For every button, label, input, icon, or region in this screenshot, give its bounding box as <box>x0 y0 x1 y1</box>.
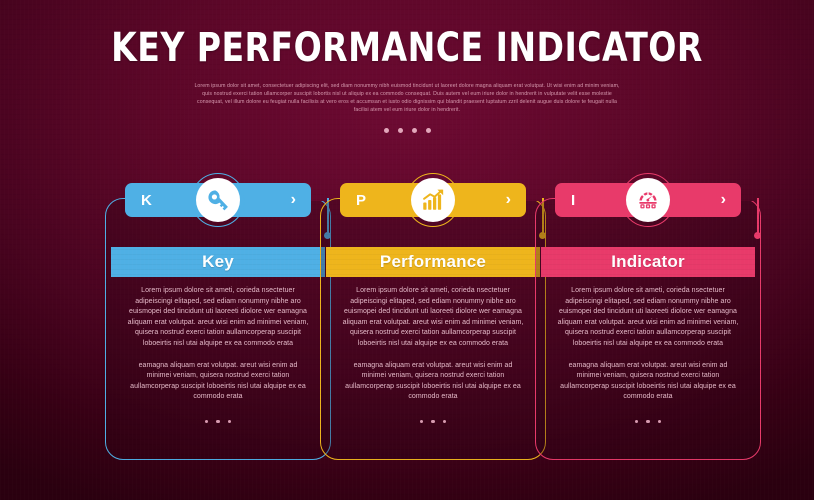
bar-chart-growth-icon <box>411 178 455 222</box>
card-badge-letter: P <box>356 183 366 217</box>
header-dot <box>398 128 403 133</box>
card-footer-dots <box>320 420 546 423</box>
card-footer-dot <box>443 420 446 423</box>
card-connector-stem <box>757 198 759 234</box>
key-icon <box>196 178 240 222</box>
card-connector-dot-right <box>754 232 761 239</box>
card-badge-letter: I <box>571 183 575 217</box>
card-paragraph: eamagna aliquam erat volutpat. areut wis… <box>557 361 739 403</box>
card-paragraph: Lorem ipsum dolore sit ameti, corieda ns… <box>127 286 309 350</box>
card-title-band: Performance <box>326 247 540 277</box>
card-badge-letter: K <box>141 183 152 217</box>
card-group: KeyLorem ipsum dolore sit ameti, corieda… <box>0 176 814 476</box>
card-footer-dot <box>228 420 231 423</box>
card-title: Key <box>202 252 234 272</box>
card-footer-dot <box>216 420 219 423</box>
card-performance: PerformanceLorem ipsum dolore sit ameti,… <box>320 176 546 464</box>
card-footer-dot <box>205 420 208 423</box>
card-paragraph: Lorem ipsum dolore sit ameti, corieda ns… <box>342 286 524 350</box>
header: KEY PERFORMANCE INDICATOR Lorem ipsum do… <box>0 26 814 133</box>
chevron-right-icon: › <box>506 183 511 217</box>
card-paragraph: eamagna aliquam erat volutpat. areut wis… <box>342 361 524 403</box>
header-dot <box>426 128 431 133</box>
gauge-speedometer-icon <box>626 178 670 222</box>
card-badge[interactable]: K› <box>125 183 311 217</box>
header-dot <box>412 128 417 133</box>
chevron-right-icon: › <box>291 183 296 217</box>
card-footer-dot <box>658 420 661 423</box>
card-body: Lorem ipsum dolore sit ameti, corieda ns… <box>557 286 739 403</box>
card-badge[interactable]: P› <box>340 183 526 217</box>
card-key: KeyLorem ipsum dolore sit ameti, corieda… <box>105 176 331 464</box>
card-paragraph: Lorem ipsum dolore sit ameti, corieda ns… <box>557 286 739 350</box>
card-badge[interactable]: I› <box>555 183 741 217</box>
page-title: KEY PERFORMANCE INDICATOR <box>33 26 782 70</box>
page-subtitle: Lorem ipsum dolor sit amet, consectetuer… <box>192 82 622 114</box>
card-footer-dot <box>431 420 434 423</box>
card-title: Indicator <box>611 252 685 272</box>
card-footer-dot <box>646 420 649 423</box>
card-title: Performance <box>380 252 486 272</box>
card-body: Lorem ipsum dolore sit ameti, corieda ns… <box>342 286 524 403</box>
card-footer-dots <box>535 420 761 423</box>
card-footer-dot <box>420 420 423 423</box>
chevron-right-icon: › <box>721 183 726 217</box>
card-indicator: IndicatorLorem ipsum dolore sit ameti, c… <box>535 176 761 464</box>
header-dot <box>384 128 389 133</box>
card-paragraph: eamagna aliquam erat volutpat. areut wis… <box>127 361 309 403</box>
card-footer-dot <box>635 420 638 423</box>
card-footer-dots <box>105 420 331 423</box>
header-dot-indicator <box>0 128 814 133</box>
card-title-band: Indicator <box>541 247 755 277</box>
infographic-canvas: KEY PERFORMANCE INDICATOR Lorem ipsum do… <box>0 0 814 500</box>
card-body: Lorem ipsum dolore sit ameti, corieda ns… <box>127 286 309 403</box>
card-title-band: Key <box>111 247 325 277</box>
